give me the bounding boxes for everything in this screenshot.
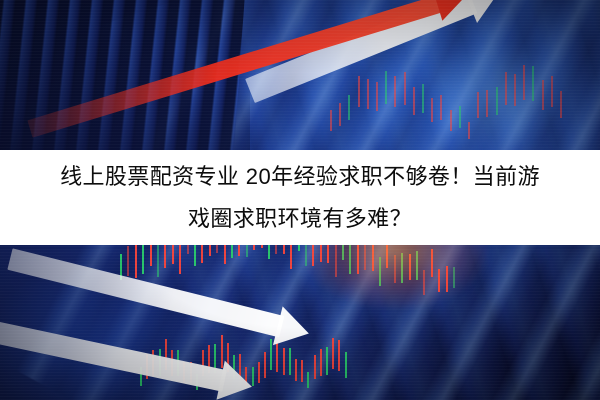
- caption-line-2: 戏圈求职环境有多难？: [188, 198, 412, 240]
- arrow-head: [216, 361, 256, 400]
- caption-line-1: 线上股票配资专业 20年经验求职不够卷！当前游: [60, 156, 540, 198]
- image-canvas: 线上股票配资专业 20年经验求职不够卷！当前游 戏圈求职环境有多难？: [0, 0, 600, 400]
- caption-band: 线上股票配资专业 20年经验求职不够卷！当前游 戏圈求职环境有多难？: [0, 150, 600, 245]
